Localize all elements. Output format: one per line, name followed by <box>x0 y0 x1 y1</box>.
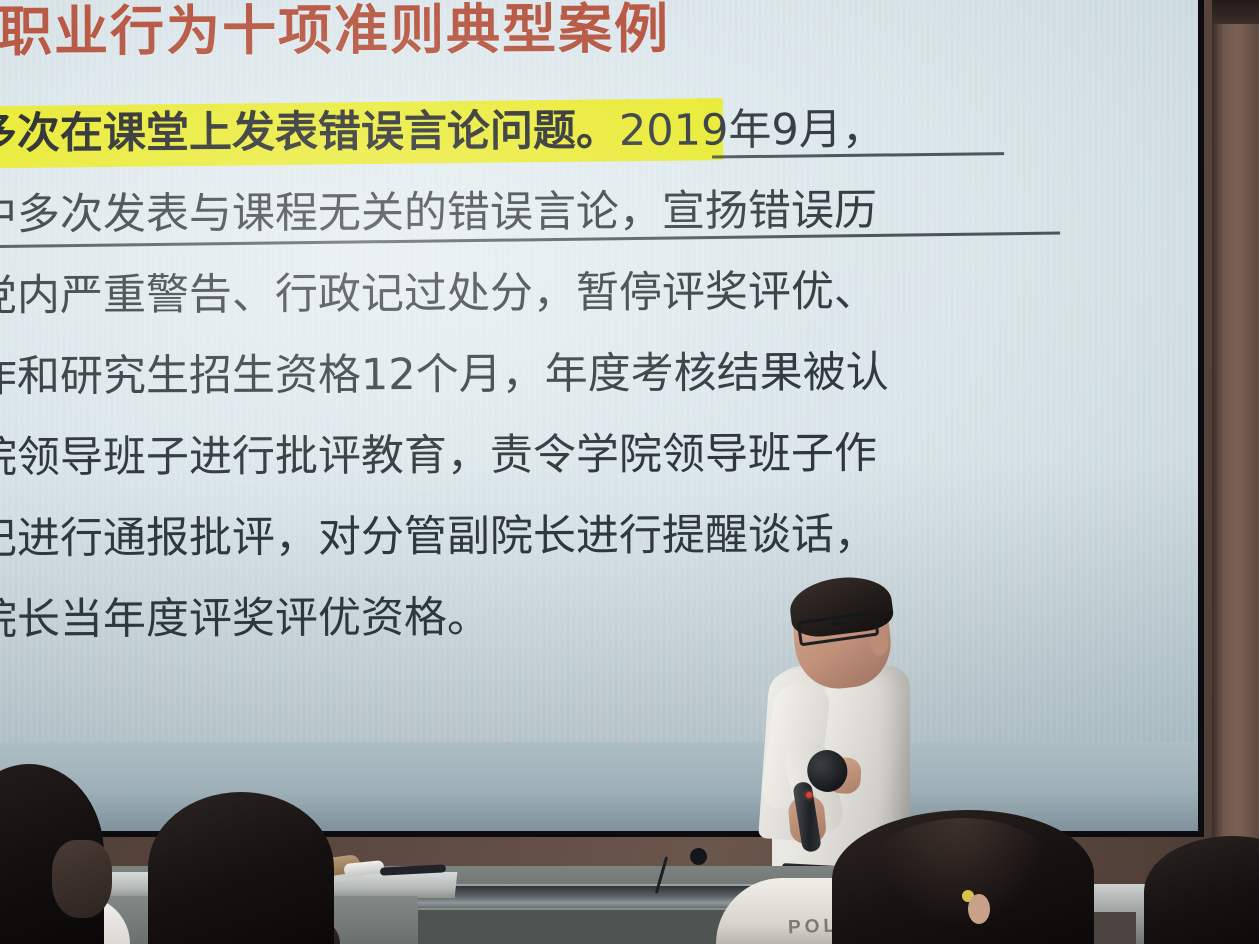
slide-line-1-plain: 2019年9月， <box>619 105 885 156</box>
photo-scene: 师职业行为十项准则典型案例 多次在课堂上发表错误言论问题。2019年9月， 中多… <box>0 0 1259 944</box>
slide-line-4: 作和研究生招生资格12个月，年度考核结果被认 <box>0 333 1198 420</box>
right-wall-panel <box>1212 0 1259 944</box>
audience-center-right-head <box>832 810 1094 944</box>
projection-screen: 师职业行为十项准则典型案例 多次在课堂上发表错误言论问题。2019年9月， 中多… <box>0 0 1198 831</box>
slide-line-4-text: 作和研究生招生资格12个月，年度考核结果被认 <box>0 345 889 405</box>
slide-line-7-text: 院长当年度评奖评优资格。 <box>0 590 490 649</box>
slide-line-3-text: 党内严重警告、行政记过处分，暂停评奖评优、 <box>0 264 877 324</box>
slide-line-7: 院长当年度评奖评优资格。 <box>0 576 1198 663</box>
slide-line-5: 院领导班子进行批评教育，责令学院领导班子作 <box>0 414 1198 501</box>
audience-center-right-ear <box>968 894 990 924</box>
slide-line-6: 记进行通报批评，对分管副院长进行提醒谈话， <box>0 495 1198 582</box>
slide-content: 师职业行为十项准则典型案例 多次在课堂上发表错误言论问题。2019年9月， 中多… <box>0 0 1198 742</box>
ceiling-strip <box>1212 0 1259 24</box>
gooseneck-microphone-head-icon <box>690 848 707 865</box>
slide-line-2: 中多次发表与课程无关的错误言论，宣扬错误历 <box>0 171 1198 258</box>
slide-body: 多次在课堂上发表错误言论问题。2019年9月， 中多次发表与课程无关的错误言论，… <box>0 96 1198 663</box>
slide-line-1: 多次在课堂上发表错误言论问题。2019年9月， <box>0 90 1198 177</box>
slide-line-1-highlighted: 多次在课堂上发表错误言论问题。 <box>0 106 619 159</box>
audience-left-2-head <box>148 792 334 944</box>
slide-title: 师职业行为十项准则典型案例 <box>0 0 670 67</box>
slide-line-6-text: 记进行通报批评，对分管副院长进行提醒谈话， <box>0 507 877 567</box>
slide-line-5-text: 院领导班子进行批评教育，责令学院领导班子作 <box>0 426 877 486</box>
slide-line-3: 党内严重警告、行政记过处分，暂停评奖评优、 <box>0 252 1198 339</box>
slide-line-2-text: 中多次发表与课程无关的错误言论，宣扬错误历 <box>0 183 877 243</box>
audience-left-1-face <box>52 840 112 918</box>
